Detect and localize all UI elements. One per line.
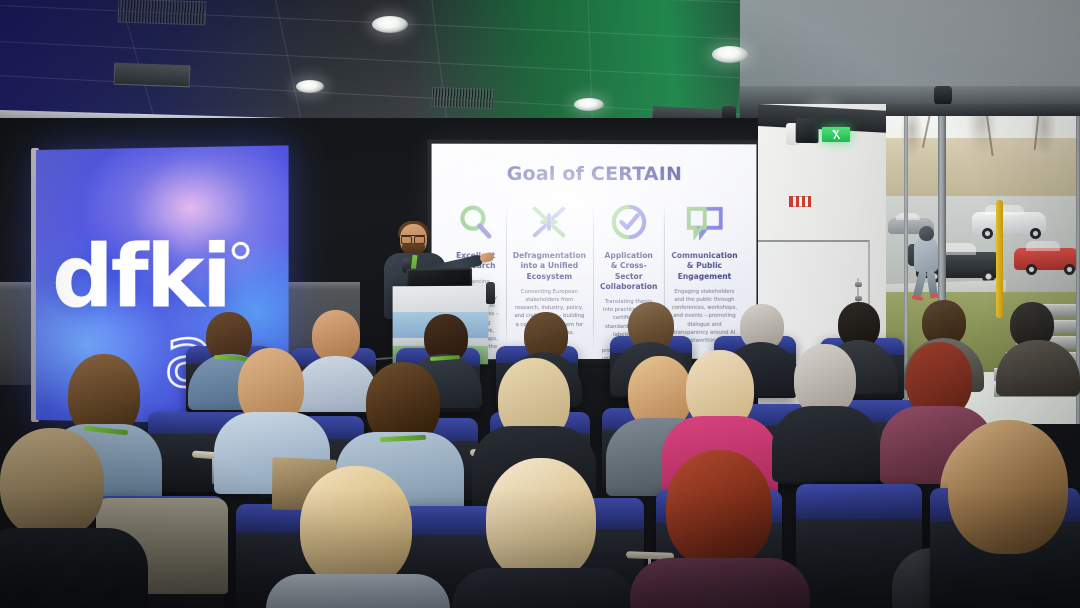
ceiling-camera-icon xyxy=(722,106,736,118)
ceiling xyxy=(0,0,1080,118)
emergency-exit-sign xyxy=(822,127,850,142)
ceiling-spotlight xyxy=(574,98,604,111)
window-header-beam xyxy=(886,104,1080,116)
audience-head xyxy=(0,428,104,538)
pedestrian-body xyxy=(914,238,938,272)
speech-bubble-icon xyxy=(671,200,737,244)
audience-shoulders xyxy=(266,574,450,608)
audience-head xyxy=(486,458,596,582)
audience-shoulders xyxy=(452,568,636,608)
running-person-icon xyxy=(832,130,840,139)
ceiling-vent-grille xyxy=(118,0,207,26)
audience-seating xyxy=(0,300,1080,608)
column-heading: Communication & Public Engagement xyxy=(671,251,737,282)
pedestrian-head xyxy=(919,226,934,241)
audience-shoulders xyxy=(996,340,1080,396)
conference-photo-scene: dfki a Goal of CERTAIN Excellent Researc… xyxy=(0,0,1080,608)
slide-title: Goal of CERTAIN xyxy=(432,163,757,185)
audience-shoulders xyxy=(772,406,880,482)
audience-head xyxy=(300,466,412,588)
ceiling-vent-grille xyxy=(432,87,495,109)
audience-head xyxy=(666,450,772,568)
audience-head xyxy=(948,420,1068,554)
dfki-degree-dot-icon xyxy=(232,242,250,260)
audience-shoulders xyxy=(0,528,148,608)
glasses-icon xyxy=(401,235,425,241)
network-cross-icon xyxy=(513,200,586,244)
column-heading: Defragmentation into a Unified Ecosystem xyxy=(513,251,586,282)
check-circle-icon xyxy=(600,200,657,244)
ceiling-projector-mount xyxy=(114,63,191,88)
column-heading: Application & Cross-Sector Collaboration xyxy=(600,251,657,292)
fire-equipment-sign xyxy=(789,196,811,207)
audience-shoulders xyxy=(630,558,810,608)
ceiling-spotlight xyxy=(372,16,408,33)
loudspeaker-icon xyxy=(796,118,819,143)
audience-head xyxy=(312,310,360,362)
ceiling-spotlight xyxy=(296,80,324,93)
ceiling-spotlight xyxy=(712,46,748,63)
